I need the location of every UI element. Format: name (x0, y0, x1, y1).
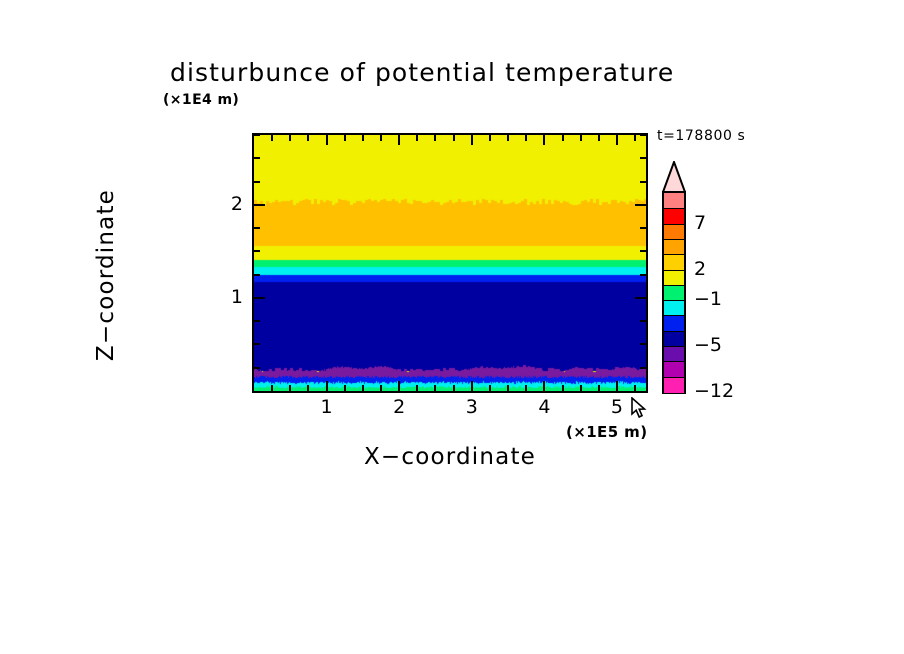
contour-field (254, 135, 646, 391)
x-tick-label: 4 (524, 396, 564, 418)
y-tick (254, 343, 260, 345)
y-tick (254, 367, 260, 369)
x-tick (380, 135, 382, 141)
x-tick (307, 385, 309, 391)
x-tick (271, 385, 273, 391)
colorbar-band (664, 239, 684, 255)
y-tick (635, 204, 646, 206)
colorbar-band (664, 285, 684, 301)
colorbar-band-separator (664, 285, 684, 286)
x-tick (344, 385, 346, 391)
x-tick (507, 385, 509, 391)
y-tick (254, 181, 260, 183)
colorbar-tick-label: −12 (694, 380, 734, 402)
colorbar-band-separator (664, 224, 684, 225)
y-tick (640, 343, 646, 345)
colorbar-band-separator (664, 239, 684, 240)
x-tick (434, 135, 436, 141)
colorbar-band-separator (664, 346, 684, 347)
x-tick-label: 2 (379, 396, 419, 418)
x-tick (307, 135, 309, 141)
colorbar-tick-label: −5 (694, 334, 722, 356)
colorbar-band (664, 361, 684, 377)
colorbar-band-separator (664, 315, 684, 316)
x-tick (543, 381, 545, 391)
x-tick (580, 385, 582, 391)
colorbar-band (664, 254, 684, 270)
y-tick (640, 157, 646, 159)
colorbar-band-separator (664, 254, 684, 255)
colorbar-extend-arrow-icon (662, 161, 686, 193)
y-tick (640, 250, 646, 252)
x-tick (525, 385, 527, 391)
x-tick (453, 135, 455, 141)
colorbar-band (664, 315, 684, 331)
x-tick (362, 135, 364, 141)
x-tick (616, 135, 618, 145)
y-tick (640, 181, 646, 183)
x-axis-title: X−coordinate (250, 444, 650, 470)
x-tick (289, 135, 291, 141)
colorbar-band-separator (664, 331, 684, 332)
x-tick (326, 135, 328, 145)
x-tick (271, 135, 273, 141)
x-tick (380, 385, 382, 391)
y-tick-label: 1 (203, 286, 243, 308)
x-tick (598, 135, 600, 141)
y-tick (640, 134, 646, 136)
y-tick (640, 367, 646, 369)
x-tick-label: 3 (452, 396, 492, 418)
plot-area[interactable] (252, 133, 648, 393)
x-tick (289, 385, 291, 391)
colorbar-band-separator (664, 208, 684, 209)
y-tick (254, 134, 260, 136)
y-axis-title: Z−coordinate (93, 125, 119, 425)
x-tick (471, 135, 473, 145)
x-tick (398, 381, 400, 391)
y-tick-label: 2 (203, 193, 243, 215)
colorbar-tick-label: 7 (694, 212, 706, 234)
colorbar-band (664, 331, 684, 347)
colorbar-band (664, 300, 684, 316)
x-tick (344, 135, 346, 141)
mouse-pointer-icon (631, 397, 647, 419)
x-tick (453, 385, 455, 391)
x-tick (562, 135, 564, 141)
y-tick (254, 297, 265, 299)
colorbar-band-separator (664, 300, 684, 301)
x-tick (580, 135, 582, 141)
x-tick-label: 1 (307, 396, 347, 418)
colorbar-band (664, 270, 684, 286)
y-tick (254, 157, 260, 159)
x-tick (326, 381, 328, 391)
y-tick (254, 204, 265, 206)
colorbar-tick-label: −1 (694, 288, 722, 310)
colorbar-band (664, 193, 684, 209)
colorbar-band-separator (664, 270, 684, 271)
colorbar-tick-label: 2 (694, 258, 706, 280)
x-tick (634, 385, 636, 391)
x-tick (525, 135, 527, 141)
y-tick (635, 297, 646, 299)
x-tick (634, 135, 636, 141)
x-tick (489, 135, 491, 141)
x-axis-unit-label: (×1E5 m) (566, 423, 647, 441)
x-tick (471, 381, 473, 391)
x-tick (416, 135, 418, 141)
colorbar-band-separator (664, 377, 684, 378)
x-tick (398, 135, 400, 145)
colorbar-band-separator (664, 361, 684, 362)
x-tick (543, 135, 545, 145)
colorbar-band (664, 377, 684, 393)
colorbar-bands (662, 191, 686, 394)
y-tick (640, 274, 646, 276)
colorbar-band (664, 224, 684, 240)
x-tick (598, 385, 600, 391)
y-tick (254, 250, 260, 252)
y-tick (254, 320, 260, 322)
x-tick (416, 385, 418, 391)
colorbar-band (664, 346, 684, 362)
x-tick (489, 385, 491, 391)
y-tick (254, 274, 260, 276)
y-axis-unit-label: (×1E4 m) (163, 92, 239, 108)
x-tick (616, 381, 618, 391)
colorbar-band (664, 208, 684, 224)
time-annotation: t=178800 s (657, 128, 745, 144)
figure-canvas: disturbunce of potential temperature (×1… (0, 0, 904, 654)
x-tick (434, 385, 436, 391)
y-tick (254, 227, 260, 229)
colorbar[interactable] (662, 161, 686, 394)
x-tick (562, 385, 564, 391)
x-tick (507, 135, 509, 141)
page-title: disturbunce of potential temperature (170, 58, 770, 87)
x-tick (362, 385, 364, 391)
y-tick (640, 227, 646, 229)
y-tick (640, 320, 646, 322)
